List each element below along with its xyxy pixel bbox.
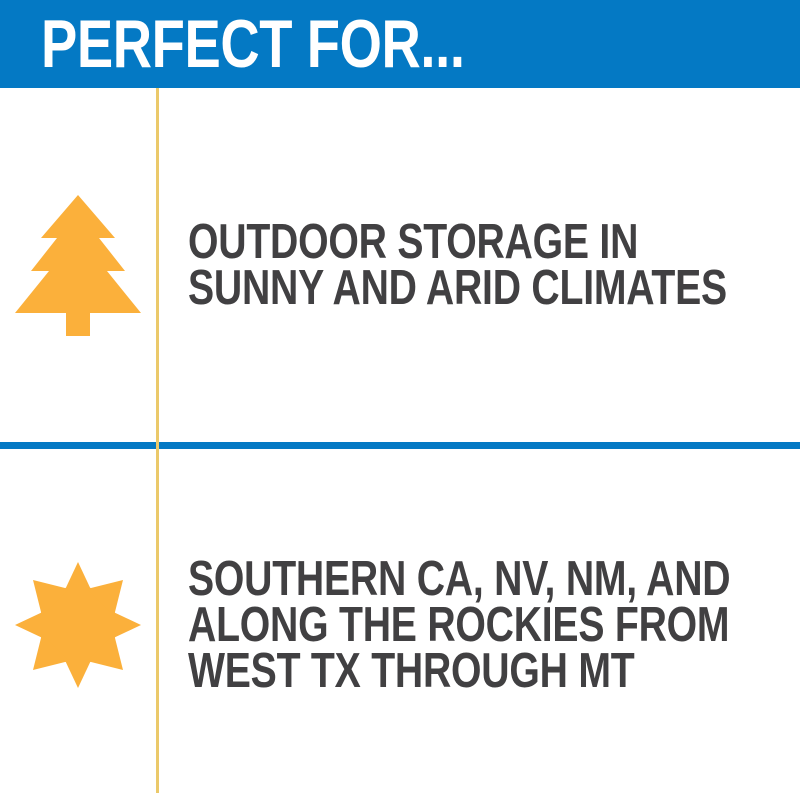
header-bar: PERFECT FOR... [0, 0, 800, 88]
text-cell-regions: SOUTHERN CA, NV, NM, AND ALONG THE ROCKI… [156, 556, 800, 694]
feature-text-line: WEST TX THROUGH MT [188, 648, 730, 694]
icon-cell-regions [0, 562, 156, 688]
horizontal-divider [0, 442, 800, 449]
feature-text-line: OUTDOOR STORAGE IN [188, 219, 727, 265]
feature-text-regions: SOUTHERN CA, NV, NM, AND ALONG THE ROCKI… [188, 556, 730, 694]
feature-text-line: ALONG THE ROCKIES FROM [188, 602, 730, 648]
feature-text-line: SOUTHERN CA, NV, NM, AND [188, 556, 730, 602]
perfect-for-infographic: PERFECT FOR... OUTDOOR STORAGE IN SUNNY … [0, 0, 800, 800]
pine-tree-icon [15, 195, 141, 336]
feature-row-outdoor-storage: OUTDOOR STORAGE IN SUNNY AND ARID CLIMAT… [0, 88, 800, 442]
page-title: PERFECT FOR... [41, 10, 465, 78]
text-cell-outdoor-storage: OUTDOOR STORAGE IN SUNNY AND ARID CLIMAT… [156, 219, 800, 311]
feature-row-regions: SOUTHERN CA, NV, NM, AND ALONG THE ROCKI… [0, 449, 800, 800]
feature-text-outdoor-storage: OUTDOOR STORAGE IN SUNNY AND ARID CLIMAT… [188, 219, 727, 311]
feature-text-line: SUNNY AND ARID CLIMATES [188, 265, 727, 311]
icon-cell-outdoor-storage [0, 195, 156, 336]
sun-icon [15, 562, 141, 688]
vertical-divider [156, 88, 159, 793]
